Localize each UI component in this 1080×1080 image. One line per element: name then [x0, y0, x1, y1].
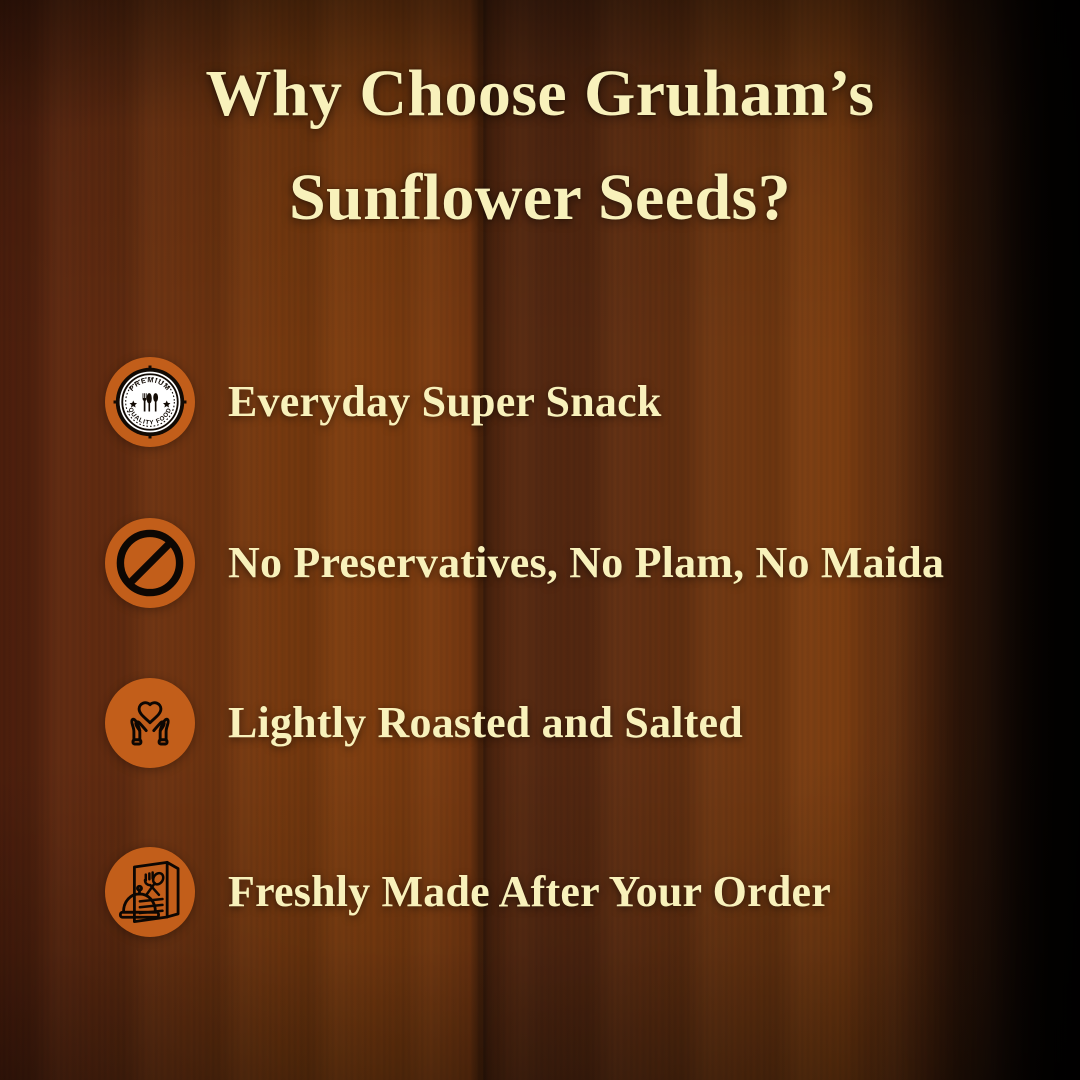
prohibition-no-sign-icon: [113, 526, 187, 600]
list-item: No Preservatives, No Plam, No Maida: [0, 482, 1080, 644]
list-item: Lightly Roasted and Salted: [0, 644, 1080, 802]
hands-holding-heart-icon: [117, 690, 183, 756]
page-title-line-2: Sunflower Seeds?: [40, 146, 1040, 250]
feature-icon-circle-1: PREMIUM QUALITY FOOD: [105, 357, 195, 447]
feature-list: PREMIUM QUALITY FOOD: [0, 322, 1080, 982]
page-title-line-1: Why Choose Gruham’s: [40, 42, 1040, 146]
list-item: Freshly Made After Your Order: [0, 802, 1080, 982]
poster-canvas: Why Choose Gruham’s Sunflower Seeds?: [0, 0, 1080, 1080]
feature-label-3: Lightly Roasted and Salted: [228, 701, 743, 745]
feature-icon-circle-4: [105, 847, 195, 937]
poster-content: Why Choose Gruham’s Sunflower Seeds?: [0, 0, 1080, 1080]
feature-label-4: Freshly Made After Your Order: [228, 870, 831, 914]
feature-label-2: No Preservatives, No Plam, No Maida: [228, 541, 944, 585]
feature-label-1: Everyday Super Snack: [228, 380, 662, 424]
feature-icon-circle-3: [105, 678, 195, 768]
page-title: Why Choose Gruham’s Sunflower Seeds?: [0, 42, 1080, 251]
list-item: PREMIUM QUALITY FOOD: [0, 322, 1080, 482]
premium-quality-food-badge-icon: PREMIUM QUALITY FOOD: [112, 364, 188, 440]
feature-icon-circle-2: [105, 518, 195, 608]
menu-card-with-cloche-icon: [111, 853, 189, 931]
